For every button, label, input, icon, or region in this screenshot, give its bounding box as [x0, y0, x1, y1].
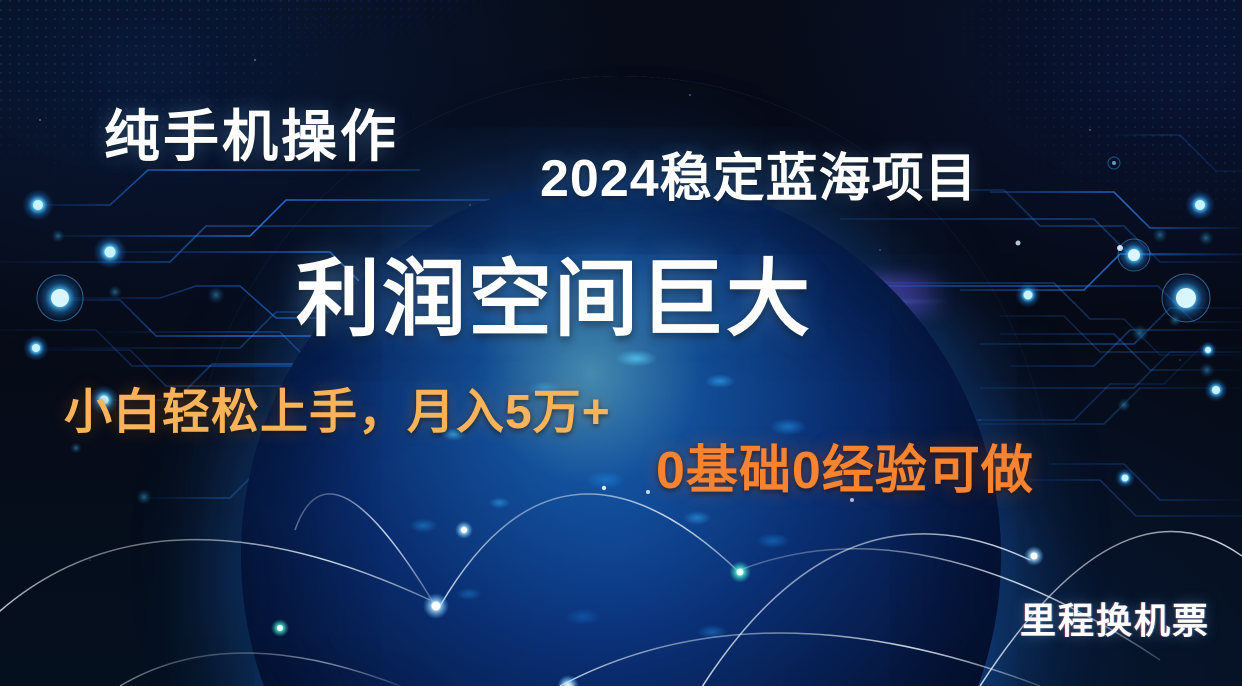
headline-2024-blue-ocean: 2024稳定蓝海项目 — [540, 136, 978, 211]
headline-huge-profit: 利润空间巨大 — [296, 232, 812, 353]
subtext-beginner-income: 小白轻松上手，月入5万+ — [64, 372, 611, 442]
promo-poster: 纯手机操作 2024稳定蓝海项目 利润空间巨大 小白轻松上手，月入5万+ 0基础… — [0, 0, 1242, 686]
watermark-mileage-ticket: 里程换机票 — [1020, 592, 1210, 644]
subtext-zero-experience: 0基础0经验可做 — [656, 428, 1034, 503]
headline-pure-mobile: 纯手机操作 — [104, 92, 399, 173]
